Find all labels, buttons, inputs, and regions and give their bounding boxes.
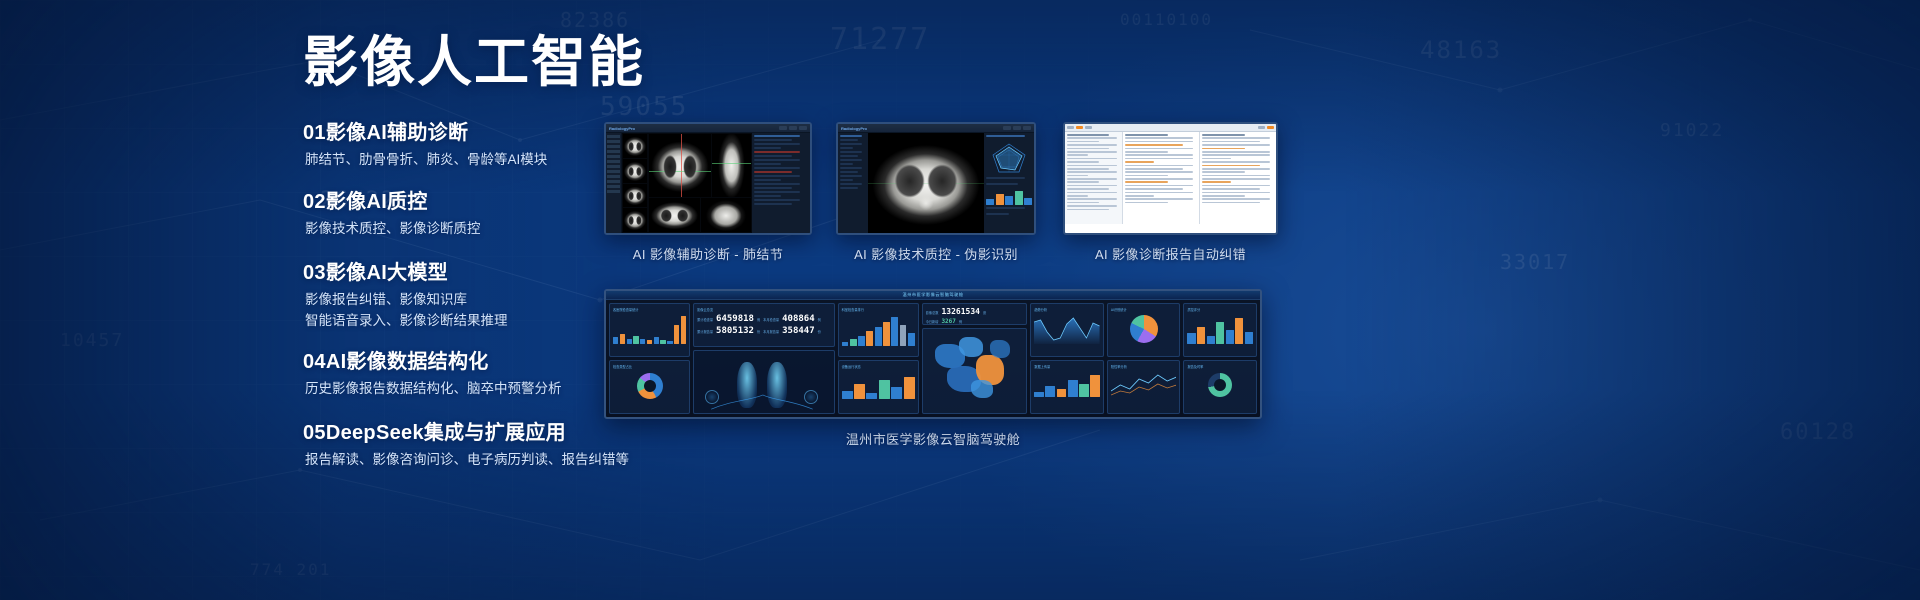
kpi-row: 今日新增 3267 例 bbox=[926, 318, 1024, 325]
ct-viewport-group[interactable] bbox=[648, 133, 752, 233]
kpi-row: 影像总数 13261534 张 bbox=[926, 307, 1024, 316]
bar-chart bbox=[1187, 314, 1253, 344]
panel-title: 阳性率分析 bbox=[1111, 364, 1127, 369]
panel-title: 检查类型占比 bbox=[613, 364, 632, 369]
dashboard-panel-device-status[interactable]: 设备运行状态 bbox=[838, 360, 919, 414]
dashboard-panel-positive-rate[interactable]: 阳性率分析 bbox=[1107, 360, 1181, 414]
panel-title: 趋势分析 bbox=[1034, 307, 1047, 312]
app-toolbar-left[interactable] bbox=[606, 133, 622, 233]
kpi-label: 累计检查量 bbox=[697, 317, 713, 322]
kpi-label: 累计报告量 bbox=[697, 329, 713, 334]
human-body-visual bbox=[697, 354, 830, 410]
dashboard-column-7: 质控评分 报告及时率 bbox=[1183, 303, 1257, 414]
dashboard-panel-hospital-volume[interactable]: 各医院检查量统计 bbox=[609, 303, 690, 357]
qc-analysis-panel[interactable] bbox=[984, 133, 1034, 233]
feature-desc-line: 报告解读、影像咨询问诊、电子病历判读、报告纠错等 bbox=[305, 450, 703, 471]
dashboard-panel-report-timeliness[interactable]: 报告及时率 bbox=[1183, 360, 1257, 414]
bar-chart bbox=[842, 371, 915, 399]
screenshot-image-3 bbox=[1063, 122, 1278, 235]
kpi-row: 累计报告量 5805132 份 本月报告量 358447 份 bbox=[697, 326, 830, 336]
region-map bbox=[926, 332, 1024, 410]
report-body bbox=[1065, 132, 1276, 224]
dashboard-panel-region-map[interactable] bbox=[922, 328, 1028, 414]
app-titlebar: RadiologyPro bbox=[838, 124, 1034, 133]
area-chart bbox=[1034, 314, 1100, 344]
kpi-value: 358447 bbox=[782, 326, 815, 336]
dashboard-panel-image-count[interactable]: 影像总数 13261534 张 今日新增 3267 例 bbox=[922, 303, 1028, 325]
qc-bar-chart bbox=[986, 189, 1032, 205]
screenshot-card-1[interactable]: RadiologyPro bbox=[604, 122, 812, 263]
titlebar-button[interactable] bbox=[1003, 126, 1011, 130]
panel-title: 报告及时率 bbox=[1187, 364, 1203, 369]
app-body bbox=[606, 133, 810, 233]
screenshot-image-1: RadiologyPro bbox=[604, 122, 812, 235]
panel-title: 科室检查量排行 bbox=[842, 307, 864, 312]
kpi-value: 6459818 bbox=[716, 314, 754, 324]
kpi-unit: 例 bbox=[818, 317, 821, 322]
page-title: 影像人工智能 bbox=[303, 34, 703, 92]
findings-panel[interactable] bbox=[752, 133, 810, 233]
app-logo: RadiologyPro bbox=[841, 126, 867, 131]
screenshot-image-2: RadiologyPro bbox=[836, 122, 1036, 235]
ct-sagittal-view[interactable] bbox=[649, 198, 700, 232]
kpi-value: 13261534 bbox=[941, 307, 980, 316]
app-titlebar: RadiologyPro bbox=[606, 124, 810, 133]
thumbnail-ct[interactable] bbox=[623, 134, 647, 158]
thumbnail-strip[interactable] bbox=[622, 133, 648, 233]
kpi-unit: 份 bbox=[757, 329, 760, 334]
toolbar-icon[interactable] bbox=[1258, 126, 1265, 129]
toolbar-icon[interactable] bbox=[1067, 126, 1074, 129]
feature-title-03: 03影像AI大模型 bbox=[303, 260, 703, 286]
app-body bbox=[838, 133, 1034, 233]
gauge-chart bbox=[1187, 371, 1253, 399]
kpi-value: 408864 bbox=[782, 314, 815, 324]
dashboard-panel-upload[interactable]: 数据上传量 bbox=[1030, 360, 1104, 414]
kpi-row: 累计检查量 6459818 例 本月检查量 408864 例 bbox=[697, 314, 830, 324]
dashboard-image: 温州市医学影像云智脑驾驶舱 各医院检查量统计 bbox=[604, 289, 1262, 419]
titlebar-button[interactable] bbox=[1023, 126, 1031, 130]
screenshot-caption-2: AI 影像技术质控 - 伪影识别 bbox=[836, 244, 1036, 263]
study-list-panel[interactable] bbox=[838, 133, 868, 233]
kpi-label: 本月检查量 bbox=[763, 317, 779, 322]
feature-desc-05: 报告解读、影像咨询问诊、电子病历判读、报告纠错等 bbox=[303, 450, 703, 471]
screenshot-caption-3: AI 影像诊断报告自动纠错 bbox=[1063, 244, 1278, 263]
dashboard-panel-dept-rank[interactable]: 科室检查量排行 bbox=[838, 303, 919, 357]
titlebar-button[interactable] bbox=[1013, 126, 1021, 130]
dashboard-panel-ai-stats[interactable]: AI识别统计 bbox=[1107, 303, 1181, 357]
screenshot-card-3[interactable]: AI 影像诊断报告自动纠错 bbox=[1063, 122, 1278, 263]
toolbar-icon[interactable] bbox=[1085, 126, 1092, 129]
bar-chart bbox=[842, 314, 915, 346]
ct-mip-view[interactable] bbox=[701, 198, 752, 232]
dashboard-grid: 各医院检查量统计 bbox=[606, 300, 1260, 417]
kpi-value: 5805132 bbox=[716, 326, 754, 336]
dashboard-panel-trend[interactable]: 趋势分析 bbox=[1030, 303, 1104, 357]
thumbnail-ct[interactable] bbox=[623, 184, 647, 208]
dashboard-title-bar: 温州市医学影像云智脑驾驶舱 bbox=[606, 291, 1260, 300]
dashboard-column-6: AI识别统计 阳性率分析 bbox=[1107, 303, 1181, 414]
report-text-column[interactable] bbox=[1123, 132, 1200, 224]
report-toolbar[interactable] bbox=[1065, 124, 1276, 132]
app-logo: RadiologyPro bbox=[609, 126, 635, 131]
dashboard-panel-kpi[interactable]: 影像云总览 累计检查量 6459818 例 本月检查量 408864 例 累计报… bbox=[693, 303, 834, 347]
panel-title: 各医院检查量统计 bbox=[613, 307, 639, 312]
screenshot-caption-1: AI 影像辅助诊断 - 肺结节 bbox=[604, 244, 812, 263]
kpi-unit: 份 bbox=[818, 329, 821, 334]
kpi-unit: 例 bbox=[959, 319, 962, 324]
dashboard-panel-qc-score[interactable]: 质控评分 bbox=[1183, 303, 1257, 357]
panel-title: 质控评分 bbox=[1187, 307, 1200, 312]
kpi-unit: 张 bbox=[983, 310, 986, 315]
dashboard-column-2: 影像云总览 累计检查量 6459818 例 本月检查量 408864 例 累计报… bbox=[693, 303, 834, 414]
donut-chart bbox=[613, 371, 686, 401]
ct-chest-view[interactable] bbox=[868, 133, 984, 233]
toolbar-icon[interactable] bbox=[1076, 126, 1083, 129]
kpi-unit: 例 bbox=[757, 317, 760, 322]
screenshot-card-2[interactable]: RadiologyPro bbox=[836, 122, 1036, 263]
panel-title: AI识别统计 bbox=[1111, 307, 1127, 312]
ct-axial-view[interactable] bbox=[649, 134, 711, 197]
dashboard-panel-donut[interactable]: 检查类型占比 bbox=[609, 360, 690, 414]
report-correction-column[interactable] bbox=[1200, 132, 1276, 224]
kpi-label: 今日新增 bbox=[926, 319, 939, 324]
titlebar-button[interactable] bbox=[799, 126, 807, 130]
line-chart bbox=[1111, 371, 1177, 397]
thumbnail-ct[interactable] bbox=[623, 159, 647, 183]
kpi-label: 本月报告量 bbox=[763, 329, 779, 334]
report-list-column[interactable] bbox=[1065, 132, 1123, 224]
thumbnail-ct[interactable] bbox=[623, 208, 647, 232]
kpi-label: 影像总数 bbox=[926, 310, 939, 315]
dashboard-column-3: 科室检查量排行 设 bbox=[838, 303, 919, 414]
toolbar-icon[interactable] bbox=[1267, 126, 1274, 129]
panel-title: 数据上传量 bbox=[1034, 364, 1050, 369]
pie-chart bbox=[1111, 314, 1177, 344]
titlebar-button[interactable] bbox=[779, 126, 787, 130]
dashboard-caption: 温州市医学影像云智脑驾驶舱 bbox=[604, 429, 1262, 448]
dashboard-column-4: 影像总数 13261534 张 今日新增 3267 例 bbox=[922, 303, 1028, 414]
bar-chart bbox=[613, 314, 686, 344]
panel-title: 设备运行状态 bbox=[842, 364, 861, 369]
panel-title: 影像云总览 bbox=[697, 307, 713, 312]
dashboard-column-5: 趋势分析 数据上传量 bbox=[1030, 303, 1104, 414]
ct-coronal-view[interactable] bbox=[712, 134, 751, 197]
bar-chart bbox=[1034, 371, 1100, 397]
dashboard-panel-human-model[interactable] bbox=[693, 350, 834, 414]
dashboard-card[interactable]: 温州市医学影像云智脑驾驶舱 各医院检查量统计 bbox=[604, 289, 1262, 448]
titlebar-button[interactable] bbox=[789, 126, 797, 130]
kpi-value: 3267 bbox=[941, 318, 955, 325]
radar-chart bbox=[986, 141, 1032, 175]
dashboard-column-1: 各医院检查量统计 bbox=[609, 303, 690, 414]
